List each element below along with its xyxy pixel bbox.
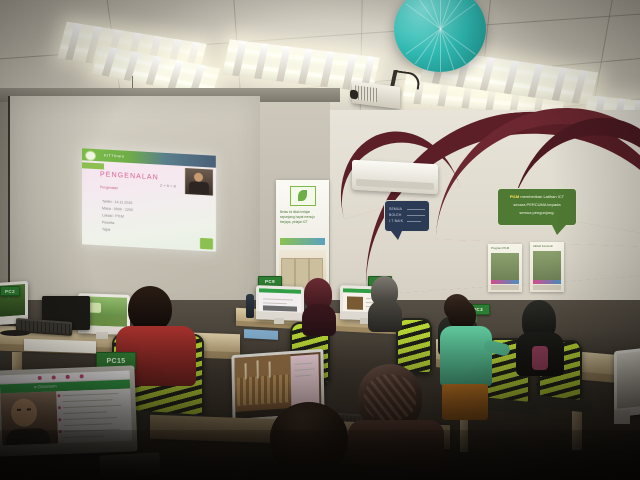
slide-bullet: Peserta — [102, 220, 114, 225]
wall-poster-1: Program PI1M — [488, 244, 522, 292]
banner-line: sepanjang hayat menuju — [280, 215, 315, 219]
slide-heading: PENGENALAN — [100, 171, 159, 181]
student-hijab-back-left — [302, 278, 336, 334]
navy-bubble-line: I.T BAIK — [389, 219, 403, 224]
green-speech-bubble-sign: PI1M memberikan Latihan ICT secara PERCU… — [497, 188, 577, 226]
slide-bullet: Tajuk — [102, 227, 110, 231]
green-bubble-line-1: PI1M memberikan Latihan ICT — [498, 194, 576, 200]
room-shadow-overlay — [0, 330, 640, 480]
slide-bullet: Tarikh : 14.11.2015 — [102, 199, 132, 205]
slide-footer-logo — [200, 238, 213, 250]
monitor-mid-left[interactable] — [256, 285, 304, 321]
navy-bubble-line: BOLEH — [389, 213, 402, 218]
slide-subheading: Pengenalan — [100, 185, 118, 190]
water-bottle[interactable] — [246, 294, 254, 318]
banner-line: Belas ini tidak belajar — [280, 210, 310, 214]
banner-color-bar — [280, 238, 325, 245]
slide-logo-icon — [85, 150, 96, 161]
slide-bullet: Lokasi : PI1M — [102, 213, 124, 218]
projected-slide: KITTIbaru PENGENALAN 2 + 6 = 8 Pengenala… — [82, 148, 216, 251]
navy-bubble-line: SEMUA — [389, 207, 402, 212]
green-bubble-highlight: PI1M — [510, 194, 519, 199]
slide-side-tab — [82, 162, 104, 169]
air-conditioner — [352, 160, 438, 195]
green-bubble-text: memberikan Latihan ICT — [520, 194, 564, 199]
wall-poster-2: Aktiviti Komuniti — [530, 242, 564, 292]
navy-speech-bubble-sign: SEMUA BOLEH I.T BAIK — [384, 200, 430, 232]
projector-lens — [350, 90, 358, 100]
banner-line: berjaya, pelajar ICT — [280, 220, 308, 224]
poster-title: Aktiviti Komuniti — [533, 244, 561, 250]
slide-webcam-thumbnail — [184, 167, 214, 197]
monitor-mid-left-screen — [259, 288, 301, 312]
slide-header-title: KITTIbaru — [104, 152, 124, 158]
classroom-photo: KITTIbaru PENGENALAN 2 + 6 = 8 Pengenala… — [0, 0, 640, 480]
monitor-mid-left-stand — [274, 318, 284, 324]
banner-logo-icon — [290, 186, 316, 206]
slide-bullet: Masa : 0900 - 1200 — [102, 206, 133, 212]
pc-label-pc2: PC2 — [0, 286, 20, 296]
student-hijab-back-right — [368, 276, 402, 330]
poster-title: Program PI1M — [491, 246, 519, 252]
slide-equation: 2 + 6 = 8 — [160, 183, 176, 189]
green-bubble-line-3: semua pengunjung. — [498, 210, 576, 216]
green-bubble-line-2: secara PERCUMA kepada — [498, 202, 576, 208]
